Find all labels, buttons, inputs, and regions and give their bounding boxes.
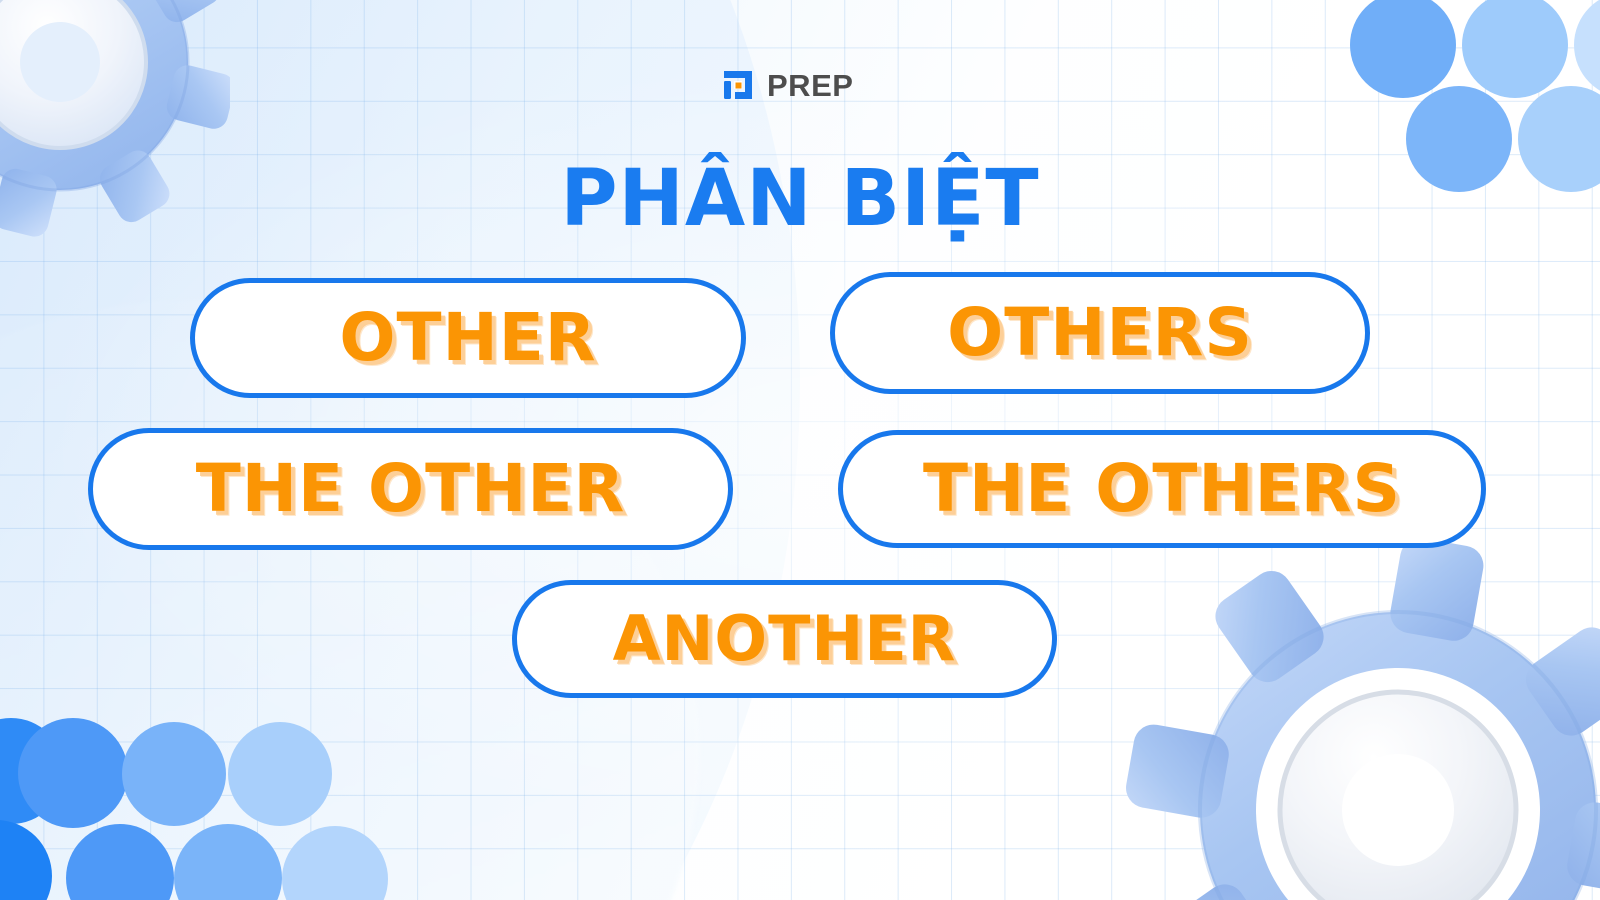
page-title: PHÂN BIỆT [0, 160, 1600, 238]
pill-other-label: OTHER [339, 305, 596, 371]
prep-logo: PREP [718, 64, 853, 106]
pill-the-other[interactable]: THE OTHER [88, 428, 733, 550]
gear-bottom-right [1068, 510, 1600, 900]
pill-others[interactable]: OTHERS [830, 272, 1370, 394]
pill-the-others-label: THE OTHERS [923, 456, 1401, 522]
pill-others-label: OTHERS [947, 300, 1253, 366]
pill-the-others[interactable]: THE OTHERS [838, 430, 1486, 548]
pill-the-other-label: THE OTHER [196, 456, 626, 522]
pill-another-label: ANOTHER [613, 608, 957, 670]
prep-wordmark: PREP [767, 70, 853, 101]
pill-other[interactable]: OTHER [190, 278, 746, 398]
decor-circle [228, 722, 332, 826]
decor-circle [122, 722, 226, 826]
decor-circle [18, 718, 128, 828]
pill-another[interactable]: ANOTHER [512, 580, 1057, 698]
prep-logo-mark [718, 65, 758, 105]
poster-canvas: PREP PHÂN BIỆT OTHER OTHERS THE OTHER TH… [0, 0, 1600, 900]
